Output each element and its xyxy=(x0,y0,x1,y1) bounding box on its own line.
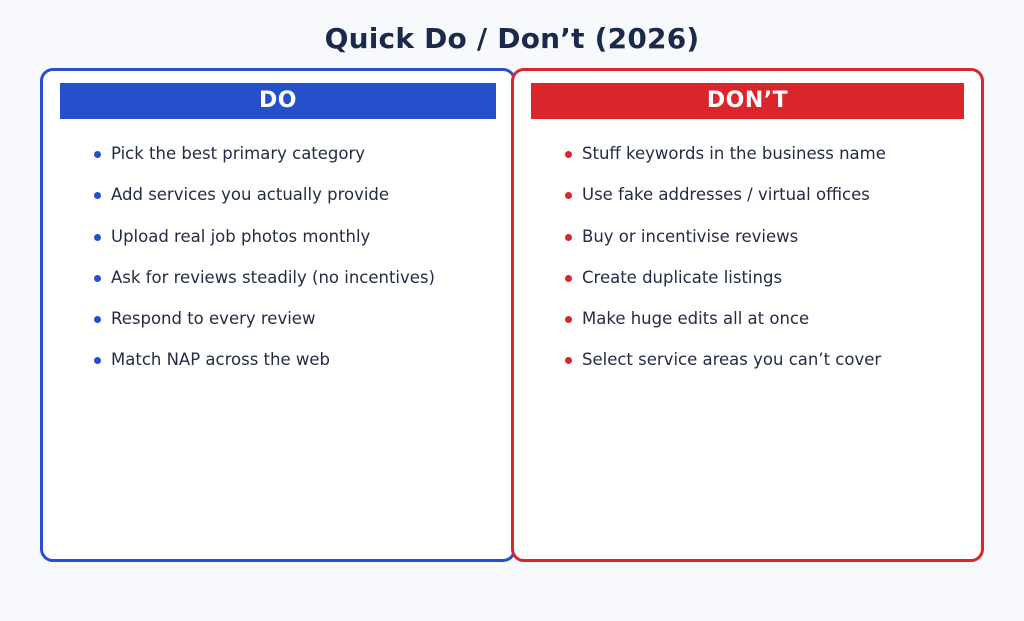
dont-panel-header: DON’T xyxy=(531,83,964,119)
do-panel-header: DO xyxy=(60,83,496,119)
list-item: Pick the best primary category xyxy=(94,143,483,165)
dont-bullet-list: Stuff keywords in the business name Use … xyxy=(514,143,981,372)
list-item: Ask for reviews steadily (no incentives) xyxy=(94,267,483,289)
bullet-dot-icon xyxy=(565,316,572,323)
infographic-canvas: Quick Do / Don’t (2026) DO Pick the best… xyxy=(0,0,1024,621)
bullet-dot-icon xyxy=(565,192,572,199)
dont-panel: DON’T Stuff keywords in the business nam… xyxy=(511,68,984,562)
list-item: Create duplicate listings xyxy=(565,267,957,289)
bullet-dot-icon xyxy=(565,357,572,364)
list-item: Respond to every review xyxy=(94,308,483,330)
bullet-dot-icon xyxy=(565,234,572,241)
list-item-label: Pick the best primary category xyxy=(111,143,483,165)
bullet-dot-icon xyxy=(565,151,572,158)
list-item-label: Match NAP across the web xyxy=(111,349,483,371)
list-item-label: Ask for reviews steadily (no incentives) xyxy=(111,267,483,289)
list-item-label: Respond to every review xyxy=(111,308,483,330)
bullet-dot-icon xyxy=(94,192,101,199)
list-item: Upload real job photos monthly xyxy=(94,226,483,248)
bullet-dot-icon xyxy=(94,151,101,158)
list-item: Select service areas you can’t cover xyxy=(565,349,957,371)
page-title: Quick Do / Don’t (2026) xyxy=(0,22,1024,55)
list-item-label: Create duplicate listings xyxy=(582,267,957,289)
bullet-dot-icon xyxy=(94,357,101,364)
bullet-dot-icon xyxy=(94,234,101,241)
list-item-label: Select service areas you can’t cover xyxy=(582,349,957,371)
list-item: Stuff keywords in the business name xyxy=(565,143,957,165)
list-item: Match NAP across the web xyxy=(94,349,483,371)
list-item-label: Make huge edits all at once xyxy=(582,308,957,330)
list-item-label: Use fake addresses / virtual offices xyxy=(582,184,957,206)
list-item-label: Buy or incentivise reviews xyxy=(582,226,957,248)
bullet-dot-icon xyxy=(565,275,572,282)
list-item: Use fake addresses / virtual offices xyxy=(565,184,957,206)
list-item-label: Add services you actually provide xyxy=(111,184,483,206)
bullet-dot-icon xyxy=(94,275,101,282)
bullet-dot-icon xyxy=(94,316,101,323)
list-item: Buy or incentivise reviews xyxy=(565,226,957,248)
list-item: Add services you actually provide xyxy=(94,184,483,206)
do-panel: DO Pick the best primary category Add se… xyxy=(40,68,516,562)
list-item: Make huge edits all at once xyxy=(565,308,957,330)
list-item-label: Stuff keywords in the business name xyxy=(582,143,957,165)
list-item-label: Upload real job photos monthly xyxy=(111,226,483,248)
do-bullet-list: Pick the best primary category Add servi… xyxy=(43,143,513,372)
